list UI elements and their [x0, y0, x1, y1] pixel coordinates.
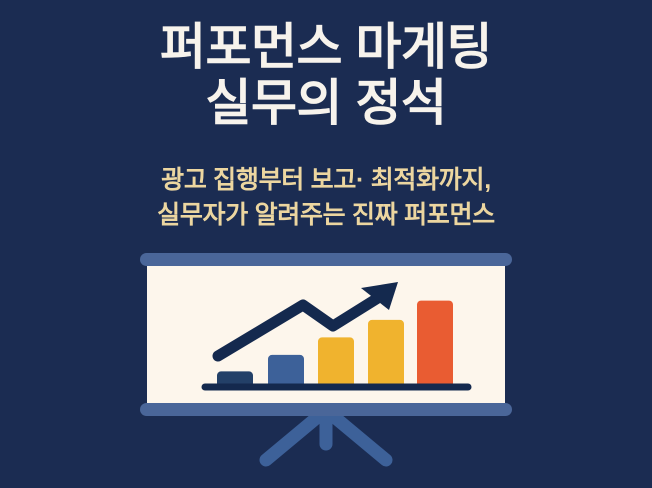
title-line-2: 실무의 정석 [0, 76, 652, 130]
screen-bottom-bar [140, 403, 512, 416]
page-subtitle: 광고 집행부터 보고· 최적화까지, 실무자가 알려주는 진짜 퍼포먼스 [0, 163, 652, 233]
screen-top-bar [140, 253, 512, 266]
chart-bar-2 [268, 355, 304, 388]
page-title: 퍼포먼스 마게팅 실무의 정석 [0, 20, 652, 130]
subtitle-line-2: 실무자가 알려주는 진짜 퍼포먼스 [0, 198, 652, 233]
poster-canvas: 퍼포먼스 마게팅 실무의 정석 광고 집행부터 보고· 최적화까지, 실무자가 … [0, 0, 652, 488]
chart-bar-5 [417, 301, 453, 388]
title-line-1: 퍼포먼스 마게팅 [0, 20, 652, 74]
chart-bar-4 [368, 320, 404, 388]
subtitle-line-1: 광고 집행부터 보고· 최적화까지, [0, 163, 652, 198]
presentation-screen-illustration [0, 248, 652, 488]
chart-bar-3 [318, 337, 354, 388]
